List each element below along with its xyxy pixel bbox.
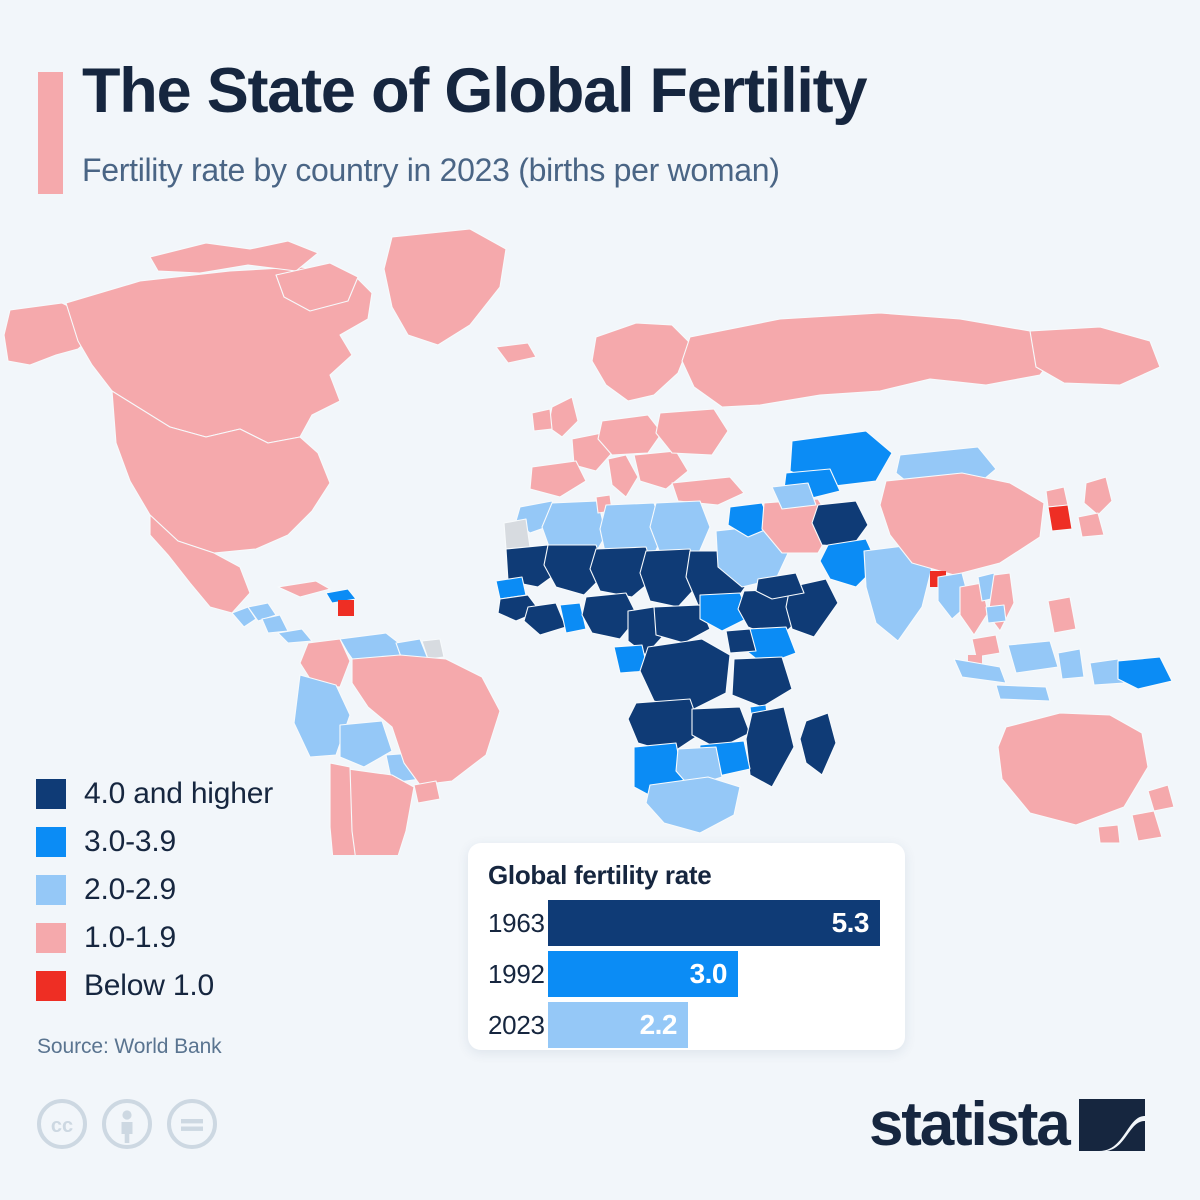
map-regions-south-america	[294, 633, 500, 855]
legend-label: 1.0-1.9	[84, 921, 176, 955]
region-indonesia-java	[996, 685, 1050, 701]
legend-item-4[interactable]: Below 1.0	[36, 962, 273, 1010]
region-new-zealand-north	[1148, 785, 1174, 811]
region-turkey	[672, 477, 744, 505]
region-germany-poland	[598, 415, 662, 455]
legend-item-3[interactable]: 1.0-1.9	[36, 914, 273, 962]
region-ghana	[560, 603, 586, 633]
region-north-korea	[1046, 487, 1068, 507]
world-map-svg: .c-high{fill:#0f3b76} .c-mid{fill:#0b8cf…	[0, 215, 1200, 855]
region-madagascar	[800, 713, 836, 775]
region-indonesia-sulawesi	[1058, 649, 1084, 679]
legend-label: 3.0-3.9	[84, 825, 176, 859]
region-nicaragua	[262, 615, 288, 633]
region-cuba	[278, 581, 330, 597]
statista-mark-icon	[1079, 1099, 1145, 1151]
inset-bar-row[interactable]: 1992 3.0	[488, 951, 888, 997]
inset-bar-value: 3.0	[690, 958, 727, 990]
region-south-korea	[1048, 505, 1072, 531]
inset-bar-row[interactable]: 2023 2.2	[488, 1002, 888, 1048]
region-brazil	[352, 655, 500, 785]
region-greenland	[384, 229, 506, 345]
inset-bar-value: 5.3	[832, 907, 869, 939]
inset-bar-fill: 2.2	[548, 1002, 688, 1048]
region-egypt	[650, 501, 710, 555]
inset-bar-fill: 5.3	[548, 900, 880, 946]
region-russia	[682, 313, 1060, 407]
region-western-sahara	[504, 519, 530, 549]
page-subtitle: Fertility rate by country in 2023 (birth…	[82, 152, 780, 189]
legend-label: Below 1.0	[84, 969, 214, 1003]
legend-label: 4.0 and higher	[84, 777, 273, 811]
inset-bar-track: 2.2	[548, 1002, 888, 1048]
region-japan	[1084, 477, 1112, 515]
region-papua-new-guinea	[1118, 657, 1172, 689]
legend-swatch-icon	[36, 971, 66, 1001]
inset-chart-title: Global fertility rate	[488, 860, 711, 891]
region-philippines	[1048, 597, 1076, 633]
region-australia	[998, 713, 1148, 825]
region-indonesia-borneo	[1008, 641, 1058, 673]
legend-label: 2.0-2.9	[84, 873, 176, 907]
cc-icon[interactable]: cc	[36, 1098, 88, 1150]
region-cambodia	[986, 605, 1006, 623]
region-ivory-coast	[524, 603, 566, 635]
title-accent-bar	[38, 72, 63, 194]
map-regions-asia	[716, 431, 1172, 701]
region-tanzania	[732, 657, 792, 707]
legend-item-2[interactable]: 2.0-2.9	[36, 866, 273, 914]
inset-bar-year: 1992	[488, 959, 548, 990]
region-japan-south	[1078, 513, 1104, 537]
region-south-africa	[646, 777, 740, 833]
world-map: .c-high{fill:#0f3b76} .c-mid{fill:#0b8cf…	[0, 215, 1200, 855]
region-ukraine-belarus	[656, 409, 728, 455]
region-ireland	[532, 409, 552, 431]
region-uruguay	[414, 781, 440, 803]
infographic-root: The State of Global Fertility Fertility …	[0, 0, 1200, 1200]
map-legend: 4.0 and higher 3.0-3.9 2.0-2.9 1.0-1.9 B…	[36, 770, 273, 1010]
page-title: The State of Global Fertility	[82, 58, 866, 124]
inset-bar-fill: 3.0	[548, 951, 738, 997]
legend-swatch-icon	[36, 923, 66, 953]
inset-bar-track: 3.0	[548, 951, 888, 997]
cc-nd-equals-icon[interactable]	[166, 1098, 218, 1150]
legend-item-0[interactable]: 4.0 and higher	[36, 770, 273, 818]
legend-swatch-icon	[36, 827, 66, 857]
statista-logo[interactable]: statista	[869, 1094, 1145, 1156]
region-canada-arctic	[150, 241, 318, 273]
inset-bar-year: 1963	[488, 908, 548, 939]
source-text: Source: World Bank	[37, 1035, 222, 1059]
region-russia-east	[1030, 327, 1160, 385]
inset-bar-row[interactable]: 1963 5.3	[488, 900, 888, 946]
region-united-kingdom	[548, 397, 578, 437]
region-norway-sweden-finland	[592, 323, 690, 401]
map-regions-oceania	[998, 713, 1174, 843]
region-tasmania	[1098, 825, 1120, 843]
inset-bar-value: 2.2	[640, 1009, 677, 1041]
region-iceland	[496, 343, 536, 363]
region-argentina	[344, 769, 414, 855]
region-uganda	[726, 629, 756, 653]
license-icons: cc	[36, 1098, 218, 1150]
legend-swatch-icon	[36, 779, 66, 809]
inset-bar-list: 1963 5.3 1992 3.0 2023	[488, 900, 888, 1053]
region-new-zealand-south	[1132, 811, 1162, 841]
cc-by-person-icon[interactable]	[101, 1098, 153, 1150]
map-regions-north-america	[4, 229, 506, 643]
region-bolivia	[340, 721, 392, 767]
inset-bar-track: 5.3	[548, 900, 888, 946]
region-italy	[608, 455, 638, 497]
legend-swatch-icon	[36, 875, 66, 905]
region-mozambique	[746, 707, 794, 787]
inset-bar-year: 2023	[488, 1010, 548, 1041]
region-spain-portugal	[530, 461, 586, 497]
inset-chart-card: Global fertility rate 1963 5.3 1992 3.0	[468, 843, 905, 1050]
region-puerto-rico-marker	[338, 600, 354, 616]
svg-text:cc: cc	[51, 1115, 73, 1137]
region-malaysia	[972, 635, 1000, 657]
legend-item-1[interactable]: 3.0-3.9	[36, 818, 273, 866]
statista-wordmark: statista	[869, 1094, 1069, 1156]
